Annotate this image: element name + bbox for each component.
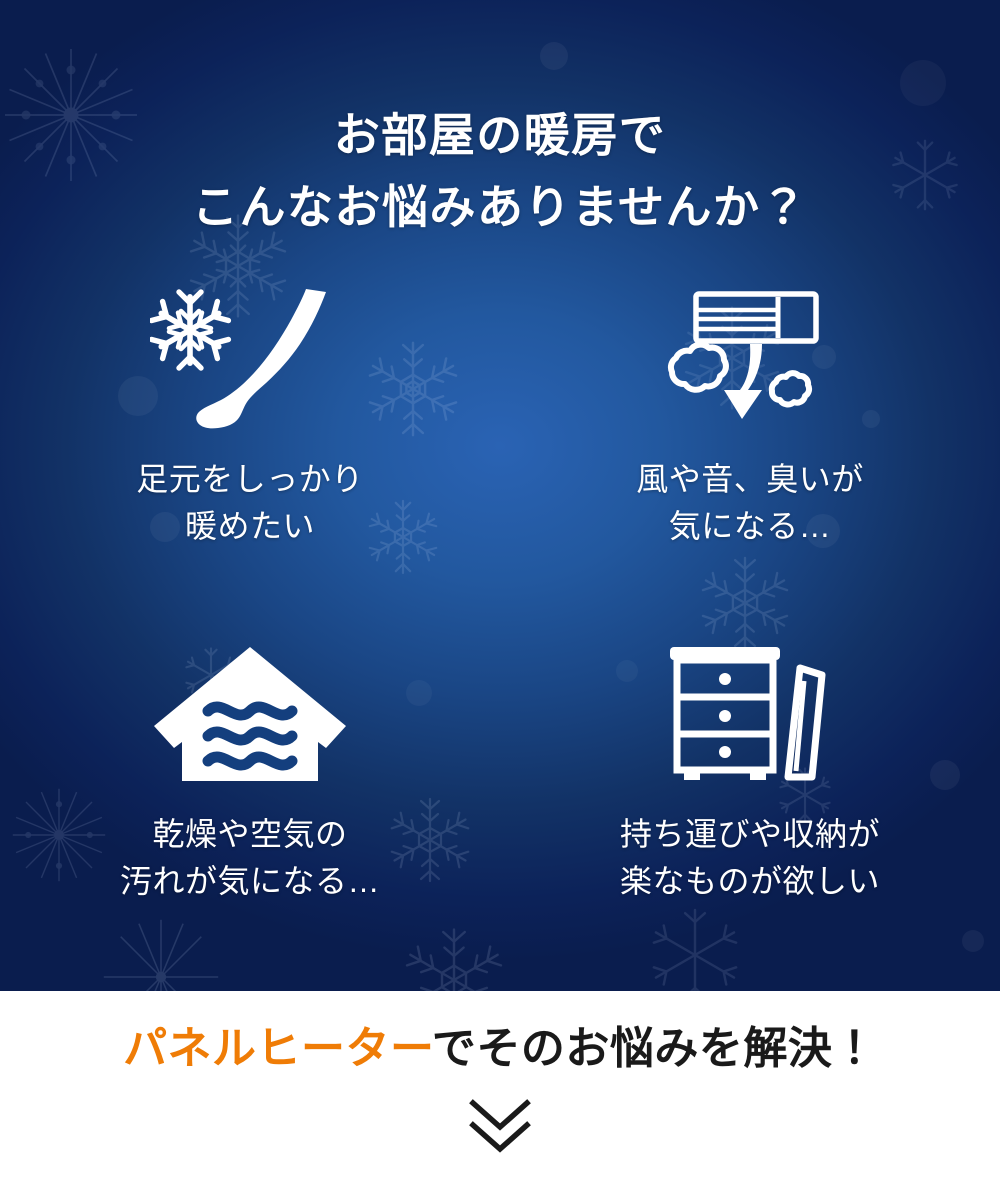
problem-item-dry-dirty-air: 乾燥や空気の 汚れが気になる… bbox=[0, 641, 500, 971]
chest-of-drawers-storage-icon bbox=[650, 641, 850, 791]
problem-item-label: 足元をしっかり 暖めたい bbox=[136, 456, 364, 550]
problem-list: 足元をしっかり 暖めたい bbox=[0, 286, 1000, 971]
solution-section: パネルヒーターでそのお悩みを解決！ bbox=[0, 991, 1000, 1200]
air-conditioner-airflow-icon bbox=[650, 286, 850, 436]
problem-item-label: 乾燥や空気の 汚れが気になる… bbox=[120, 811, 380, 905]
scroll-hint[interactable] bbox=[0, 1097, 1000, 1153]
promo-banner: お部屋の暖房で こんなお悩みありませんか？ bbox=[0, 0, 1000, 1200]
double-chevron-down-icon[interactable] bbox=[467, 1097, 533, 1153]
page-title: お部屋の暖房で こんなお悩みありませんか？ bbox=[0, 99, 1000, 243]
house-dry-air-icon bbox=[150, 641, 350, 791]
bokeh-dot bbox=[540, 42, 568, 70]
cold-foot-icon bbox=[150, 286, 350, 436]
solution-product-name: パネルヒーター bbox=[123, 1024, 432, 1073]
problem-item-cold-feet: 足元をしっかり 暖めたい bbox=[0, 286, 500, 641]
problem-item-label: 風や音、臭いが 気になる… bbox=[636, 456, 864, 550]
solution-headline-rest: でそのお悩みを解決！ bbox=[432, 1024, 877, 1073]
solution-headline: パネルヒーターでそのお悩みを解決！ bbox=[0, 1019, 1000, 1079]
problem-item-wind-noise-smell: 風や音、臭いが 気になる… bbox=[500, 286, 1000, 641]
problem-item-label: 持ち運びや収納が 楽なものが欲しい bbox=[620, 811, 880, 905]
problem-item-portable-storage: 持ち運びや収納が 楽なものが欲しい bbox=[500, 641, 1000, 971]
hero-section: お部屋の暖房で こんなお悩みありませんか？ bbox=[0, 0, 1000, 991]
